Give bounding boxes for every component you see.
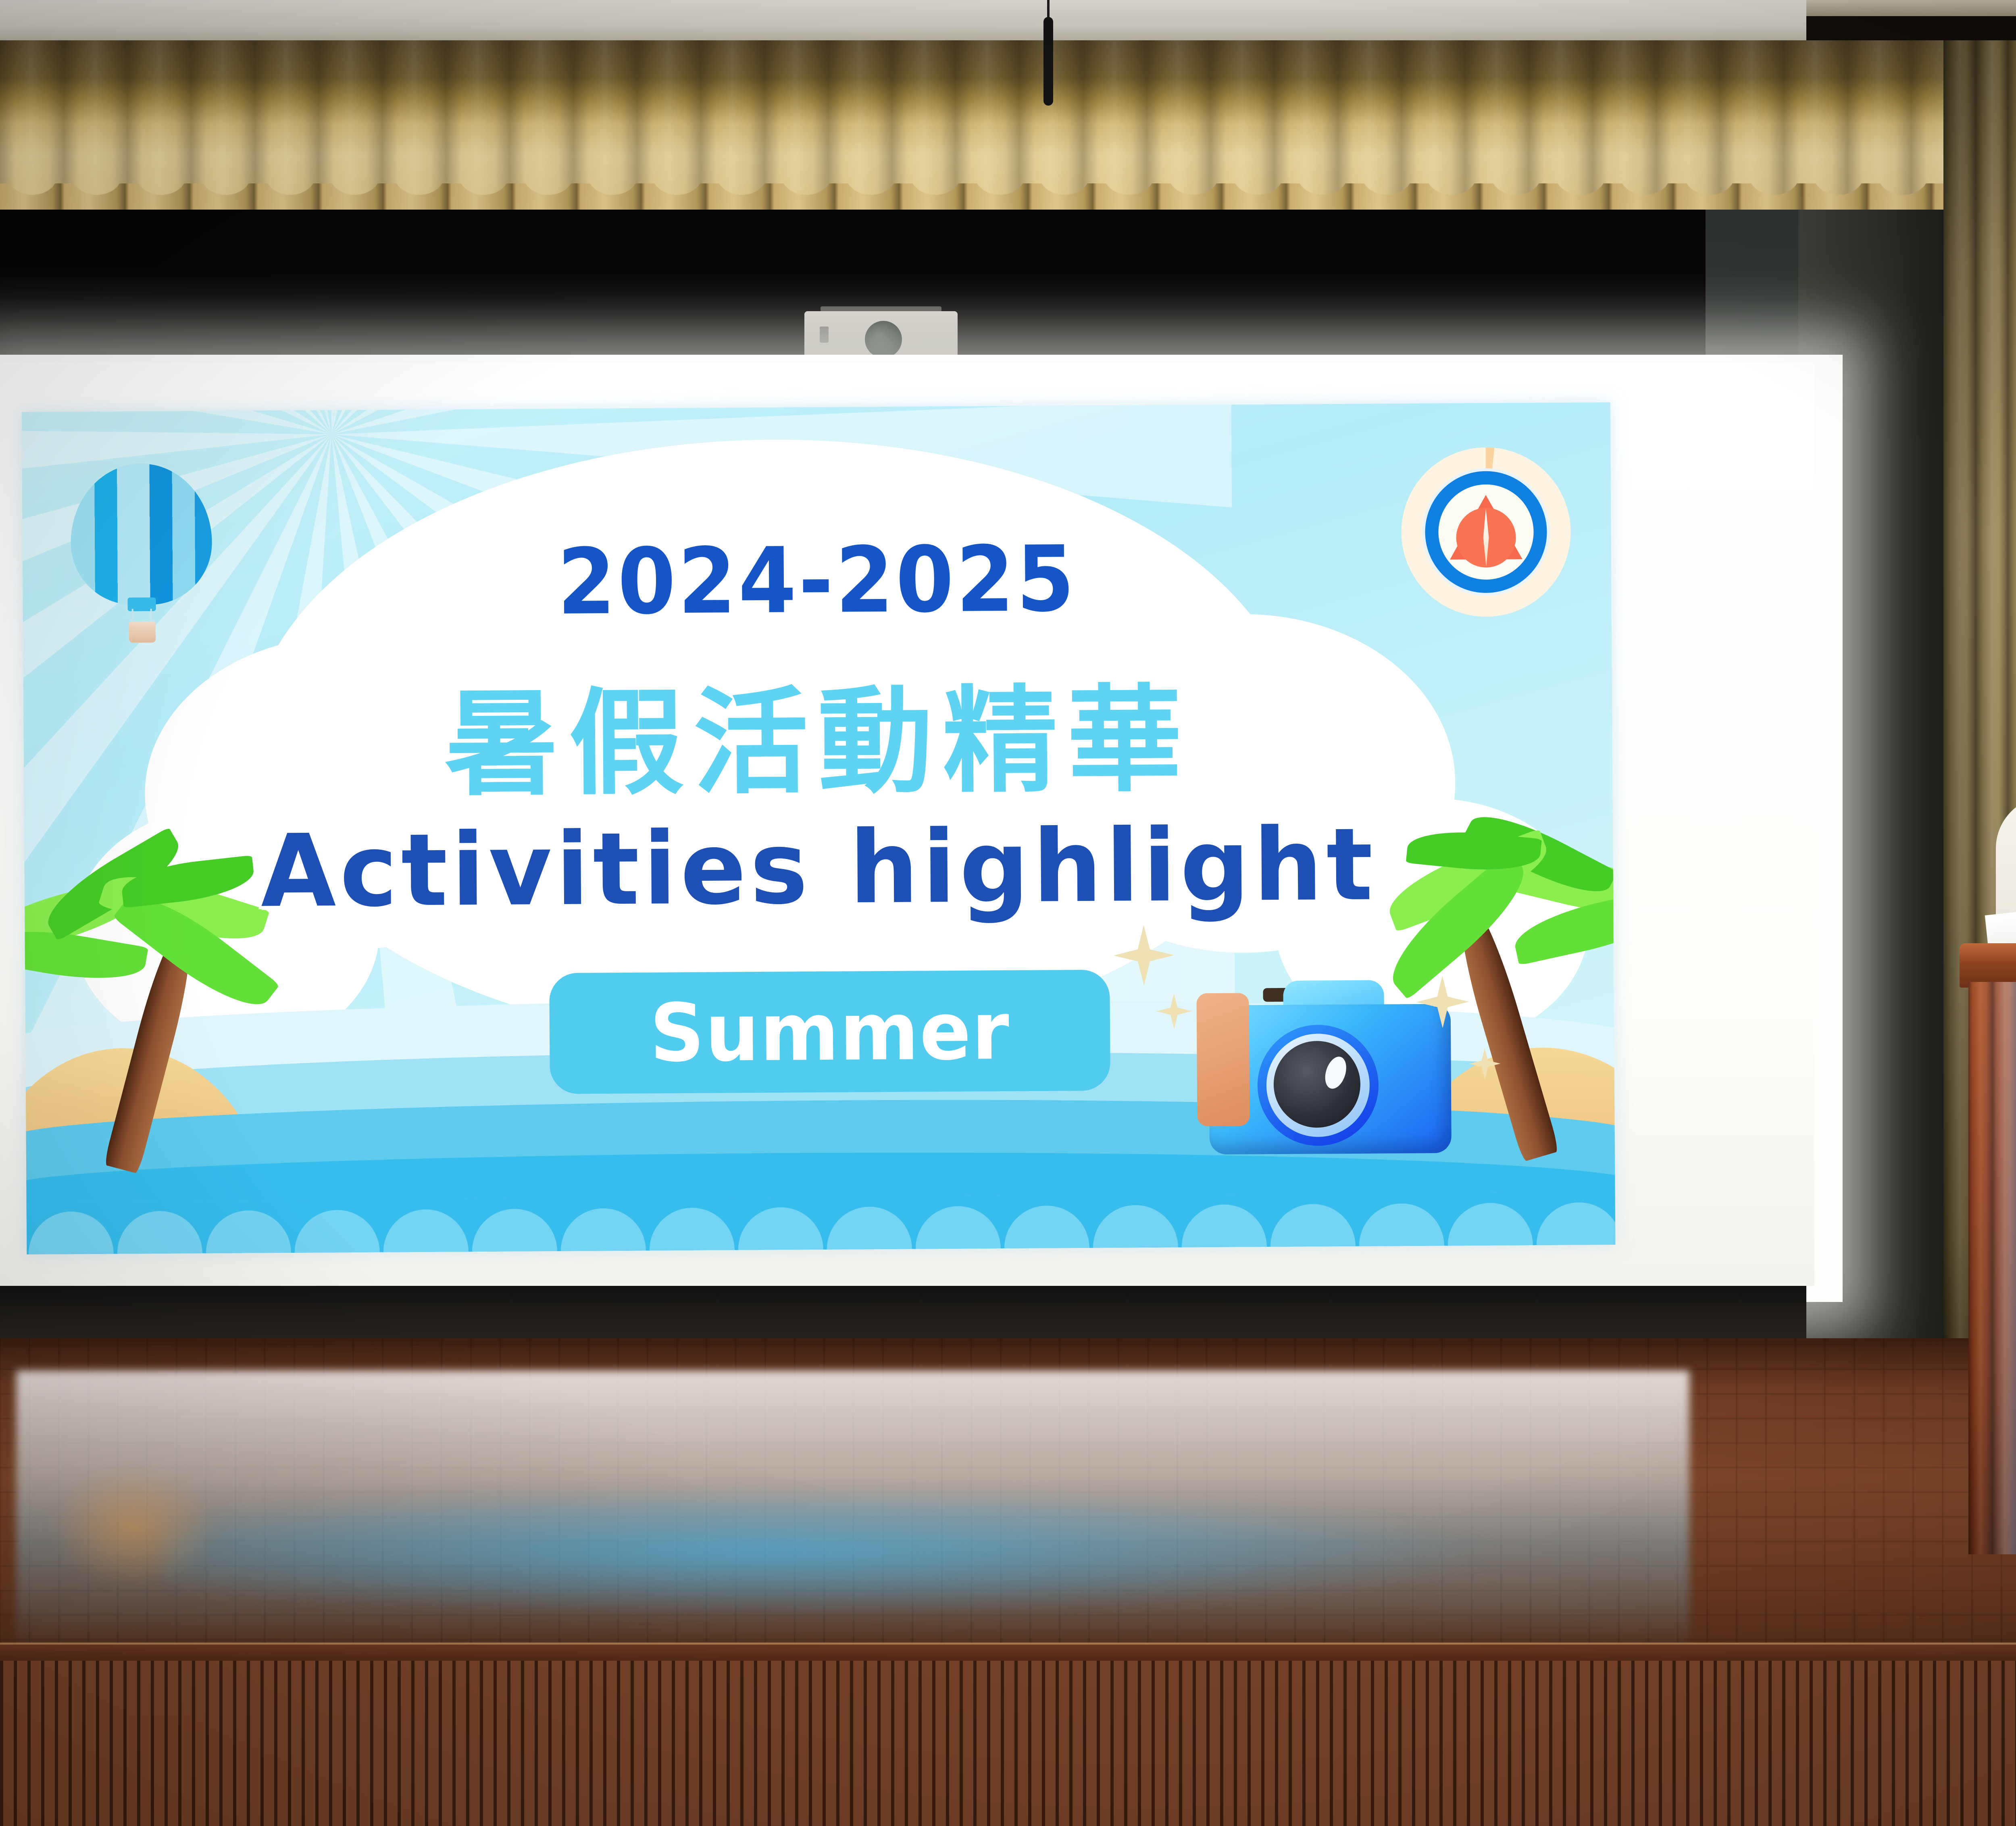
ceiling xyxy=(0,0,1806,45)
stage-floor-reflection-blue xyxy=(161,1487,1492,1616)
podium: 學 中 育 三 埔 大 T A I P O S A M Y U K S E xyxy=(1960,943,2016,1556)
camera-lens-inner xyxy=(1273,1041,1360,1128)
wave-scallop-icon xyxy=(27,1192,1616,1254)
projector-lens xyxy=(865,321,902,358)
ceiling-projector-icon xyxy=(804,306,974,359)
slide-headline-english: Activities highlight xyxy=(48,805,1589,931)
projector-vent xyxy=(820,327,829,343)
slide-season-badge: Summer xyxy=(549,970,1110,1094)
slide-year-range: 2024-2025 xyxy=(86,524,1548,638)
slide-season-badge-label: Summer xyxy=(650,984,1010,1079)
podium-light-sheen xyxy=(1985,982,2016,1554)
ceiling-right xyxy=(1806,0,2016,16)
hanging-microphone-icon xyxy=(1040,0,1056,105)
stage-scene: 2024-2025 暑假活動精華 Activities highlight Su… xyxy=(0,0,2016,1826)
mic-capsule xyxy=(1043,17,1053,106)
stage-apron-slats xyxy=(0,1661,2016,1826)
presentation-slide: 2024-2025 暑假活動精華 Activities highlight Su… xyxy=(22,402,1616,1254)
podium-shaft xyxy=(1968,982,2016,1554)
camera-grip xyxy=(1197,993,1250,1126)
podium-top-rail xyxy=(1960,943,2016,988)
stage-apron xyxy=(0,1645,2016,1826)
stage-floor-reflection-warm xyxy=(48,1467,218,1588)
screen-bottom-masking xyxy=(0,1286,1806,1346)
slide-headline-chinese: 暑假活動精華 xyxy=(23,644,1612,820)
